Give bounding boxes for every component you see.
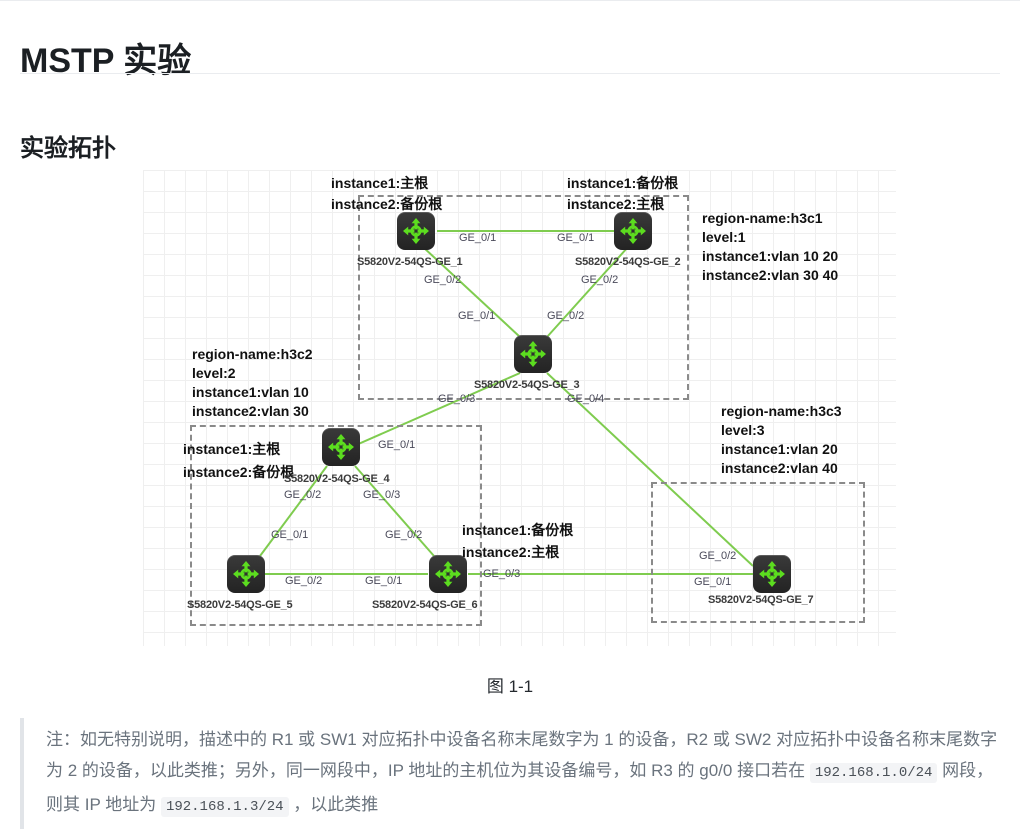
role-sw4-instance2: instance2:备份根 bbox=[183, 462, 294, 482]
topology-diagram: instance1:主根 instance2:备份根 S5820V2-54QS-… bbox=[143, 170, 896, 646]
switch-sw1[interactable] bbox=[397, 212, 435, 250]
page-title: MSTP 实验 bbox=[20, 33, 191, 82]
note-code-ip: 192.168.1.3/24 bbox=[161, 797, 289, 817]
switch-icon bbox=[232, 560, 260, 588]
region-h3c1-level: level:1 bbox=[702, 228, 838, 247]
region-h3c3-level: level:3 bbox=[721, 421, 842, 440]
switch-icon bbox=[619, 217, 647, 245]
region-h3c3-name: region-name:h3c3 bbox=[721, 402, 842, 421]
port-sw6-ge03: GE_0/3 bbox=[483, 568, 520, 580]
device-label-sw1: S5820V2-54QS-GE_1 bbox=[357, 256, 462, 268]
port-sw6-ge01: GE_0/1 bbox=[365, 575, 402, 587]
region-h3c2-instance1: instance1:vlan 10 bbox=[192, 383, 313, 402]
port-sw4-ge03: GE_0/3 bbox=[363, 489, 400, 501]
port-sw4-ge01: GE_0/1 bbox=[378, 439, 415, 451]
role-sw6-instance2: instance2:主根 bbox=[462, 542, 559, 562]
region-h3c1-name: region-name:h3c1 bbox=[702, 209, 838, 228]
role-sw6-instance1: instance1:备份根 bbox=[462, 520, 573, 540]
note-code-subnet: 192.168.1.0/24 bbox=[810, 763, 938, 783]
port-sw6-ge02: GE_0/2 bbox=[385, 529, 422, 541]
device-label-sw4: S5820V2-54QS-GE_4 bbox=[284, 473, 389, 485]
device-label-sw3: S5820V2-54QS-GE_3 bbox=[474, 379, 579, 391]
switch-icon bbox=[327, 433, 355, 461]
port-sw5-ge01: GE_0/1 bbox=[271, 529, 308, 541]
section-heading: 实验拓扑 bbox=[20, 128, 116, 163]
region-h3c3-instance2: instance2:vlan 40 bbox=[721, 459, 842, 478]
switch-icon bbox=[402, 217, 430, 245]
role-sw4-instance1: instance1:主根 bbox=[183, 439, 280, 459]
device-label-sw6: S5820V2-54QS-GE_6 bbox=[372, 599, 477, 611]
top-divider bbox=[0, 0, 1020, 1]
note-text-part3: ，以此类推 bbox=[289, 795, 379, 814]
port-sw4-ge02: GE_0/2 bbox=[284, 489, 321, 501]
port-sw3-ge03: GE_0/3 bbox=[438, 393, 475, 405]
region-h3c2-name: region-name:h3c2 bbox=[192, 345, 313, 364]
role-sw2-instance1: instance1:备份根 bbox=[567, 173, 678, 193]
region-annotation-h3c1: region-name:h3c1 level:1 instance1:vlan … bbox=[702, 209, 838, 285]
port-sw2-ge02: GE_0/2 bbox=[581, 274, 618, 286]
figure-caption: 图 1-1 bbox=[0, 672, 1020, 697]
region-h3c2-level: level:2 bbox=[192, 364, 313, 383]
switch-icon bbox=[758, 560, 786, 588]
switch-sw2[interactable] bbox=[614, 212, 652, 250]
switch-sw4[interactable] bbox=[322, 428, 360, 466]
switch-sw5[interactable] bbox=[227, 555, 265, 593]
port-sw3-ge04: GE_0/4 bbox=[567, 393, 604, 405]
note-block: 注：如无特别说明，描述中的 R1 或 SW1 对应拓扑中设备名称末尾数字为 1 … bbox=[20, 718, 1000, 829]
device-label-sw5: S5820V2-54QS-GE_5 bbox=[187, 599, 292, 611]
device-label-sw2: S5820V2-54QS-GE_2 bbox=[575, 256, 680, 268]
switch-sw3[interactable] bbox=[514, 335, 552, 373]
region-h3c2-instance2: instance2:vlan 30 bbox=[192, 402, 313, 421]
region-h3c1-instance2: instance2:vlan 30 40 bbox=[702, 266, 838, 285]
page-root: MSTP 实验 实验拓扑 bbox=[0, 0, 1020, 833]
device-label-sw7: S5820V2-54QS-GE_7 bbox=[708, 594, 813, 606]
port-sw3-ge02: GE_0/2 bbox=[547, 310, 584, 322]
region-h3c3-instance1: instance1:vlan 20 bbox=[721, 440, 842, 459]
port-sw1-ge02: GE_0/2 bbox=[424, 274, 461, 286]
title-divider bbox=[20, 73, 1000, 74]
port-sw7-ge02: GE_0/2 bbox=[699, 550, 736, 562]
port-sw5-ge02: GE_0/2 bbox=[285, 575, 322, 587]
switch-icon bbox=[434, 560, 462, 588]
region-annotation-h3c2: region-name:h3c2 level:2 instance1:vlan … bbox=[192, 345, 313, 421]
port-sw1-ge01: GE_0/1 bbox=[459, 232, 496, 244]
role-sw2-instance2: instance2:主根 bbox=[567, 194, 664, 214]
role-sw1-instance2: instance2:备份根 bbox=[331, 194, 442, 214]
port-sw3-ge01: GE_0/1 bbox=[458, 310, 495, 322]
switch-icon bbox=[519, 340, 547, 368]
switch-sw7[interactable] bbox=[753, 555, 791, 593]
role-sw1-instance1: instance1:主根 bbox=[331, 173, 428, 193]
port-sw7-ge01: GE_0/1 bbox=[694, 576, 731, 588]
region-h3c1-instance1: instance1:vlan 10 20 bbox=[702, 247, 838, 266]
port-sw2-ge01: GE_0/1 bbox=[557, 232, 594, 244]
region-annotation-h3c3: region-name:h3c3 level:3 instance1:vlan … bbox=[721, 402, 842, 478]
